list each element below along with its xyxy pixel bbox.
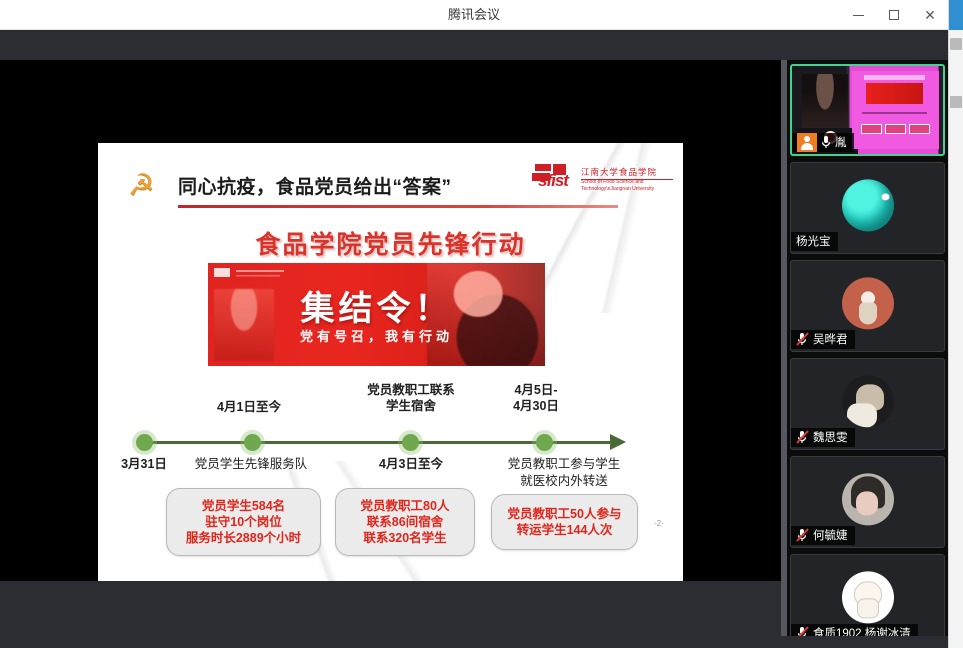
user-avatar-icon	[797, 133, 817, 152]
presentation-slide: ☭ 同心抗疫，食品党员给出“答案” sfist 江南大学食品学院 School …	[98, 143, 683, 581]
slide-timeline: 4月1日至今 党员教职工联系 学生宿舍 4月5日- 4月30日 3月31日 党员…	[98, 383, 683, 483]
banner-subtitle: 党有号召，我有行动	[208, 326, 545, 345]
participant-avatar-1	[842, 179, 894, 231]
projected-box-1	[861, 124, 882, 134]
participant-name-2: 吴晔君	[813, 331, 848, 347]
slide-header: ☭ 同心抗疫，食品党员给出“答案” sfist 江南大学食品学院 School …	[98, 161, 683, 213]
participant-name-bar-3: 魏思雯	[791, 428, 855, 447]
microphone-muted-icon	[796, 332, 809, 346]
microphone-icon	[821, 135, 831, 149]
participant-avatar-2	[842, 277, 894, 329]
party-emblem-icon: ☭	[128, 169, 168, 203]
shared-screen-area[interactable]: ☭ 同心抗疫，食品党员给出“答案” sfist 江南大学食品学院 School …	[0, 60, 781, 581]
slide-subtitle: 食品学院党员先锋行动	[98, 225, 683, 261]
background-window-titlebar	[949, 0, 963, 30]
slide-result-boxes: 党员学生584名 驻守10个岗位 服务时长2889个小时 党员教职工80人 联系…	[98, 488, 683, 566]
participant-tile-2[interactable]: 吴晔君	[790, 260, 945, 352]
timeline-dot-4	[536, 434, 553, 451]
close-button[interactable]: ✕	[912, 0, 948, 30]
projected-slide	[852, 71, 939, 149]
meeting-stage: ☭ 同心抗疫，食品党员给出“答案” sfist 江南大学食品学院 School …	[0, 30, 948, 648]
sfist-logo-mark: sfist	[529, 163, 577, 199]
participant-tile-0[interactable]: 胤	[790, 64, 945, 156]
timeline-dot-3	[402, 434, 419, 451]
participant-tile-1[interactable]: 杨光宝	[790, 162, 945, 254]
participant-avatar-3	[842, 375, 894, 427]
title-bar[interactable]: 腾讯会议 ✕	[0, 0, 948, 30]
projected-red-banner	[866, 83, 923, 103]
slide-banner-image: 集结令！ 党有号召，我有行动	[208, 263, 545, 366]
timeline-label-top-3: 党员教职工联系 学生宿舍	[338, 382, 484, 414]
logo-chinese-name: 江南大学食品学院	[581, 166, 673, 180]
minimize-button[interactable]	[840, 0, 876, 30]
participant-tile-5[interactable]: 食质1902 杨谢冰清	[790, 554, 945, 646]
banner-logo-icon	[214, 267, 286, 279]
window-bottom-edge	[0, 636, 948, 648]
projected-box-3	[909, 124, 930, 134]
timeline-arrow-icon	[610, 434, 626, 450]
result-box-1: 党员学生584名 驻守10个岗位 服务时长2889个小时	[166, 488, 321, 556]
meeting-window: 腾讯会议 ✕ ☭ 同心抗疫，食品党员给出“答案”	[0, 0, 963, 648]
timeline-label-bottom-2: 党员学生先锋服务队	[172, 456, 330, 473]
participant-name-0: 胤	[835, 134, 847, 150]
participant-avatar-5	[842, 571, 894, 623]
minimize-icon	[853, 15, 864, 16]
background-window-icon-2	[950, 96, 962, 108]
maximize-icon	[889, 10, 899, 20]
participant-name-3: 魏思雯	[813, 429, 848, 445]
window-controls: ✕	[840, 0, 948, 30]
university-logo: sfist 江南大学食品学院 School of Food Science an…	[529, 163, 677, 201]
participant-name-4: 何毓婕	[813, 527, 848, 543]
projected-box-2	[885, 124, 906, 134]
participants-rail[interactable]: 胤 杨光宝 吴晔君	[781, 60, 948, 648]
participant-tile-4[interactable]: 何毓婕	[790, 456, 945, 548]
timeline-label-bottom-4: 党员教职工参与学生 就医校内外转送	[484, 456, 644, 490]
timeline-label-bottom-3: 4月3日至今	[352, 456, 470, 473]
participant-name-bar-0: 胤	[792, 133, 854, 152]
slide-title: 同心抗疫，食品党员给出“答案”	[178, 172, 452, 199]
logo-english-name: School of Food Science and Technology\nJ…	[581, 179, 677, 193]
participants-rail-inner: 胤 杨光宝 吴晔君	[787, 60, 948, 648]
background-window-icon-1	[950, 38, 962, 50]
microphone-muted-icon	[796, 528, 809, 542]
title-underline	[178, 205, 618, 208]
timeline-label-top-4: 4月5日- 4月30日	[490, 382, 582, 414]
participant-name-bar-1: 杨光宝	[791, 232, 838, 251]
maximize-button[interactable]	[876, 0, 912, 30]
microphone-muted-icon	[796, 430, 809, 444]
slide-page-number: -2-	[654, 519, 664, 528]
participant-name-bar-4: 何毓婕	[791, 526, 855, 545]
timeline-dot-2	[244, 434, 261, 451]
participant-tile-3[interactable]: 魏思雯	[790, 358, 945, 450]
result-box-3: 党员教职工50人参与 转运学生144人次	[491, 494, 638, 550]
participant-name-1: 杨光宝	[796, 233, 831, 249]
timeline-label-top-2: 4月1日至今	[194, 399, 304, 415]
background-window-sliver[interactable]	[948, 0, 963, 648]
projected-title-bar	[864, 75, 925, 80]
projected-line-1	[862, 112, 926, 114]
timeline-dot-1	[136, 434, 153, 451]
result-box-2: 党员教职工80人 联系86间宿舍 联系320名学生	[335, 488, 475, 556]
window-title: 腾讯会议	[0, 0, 948, 30]
participant-avatar-4	[842, 473, 894, 525]
banner-title: 集结令！	[208, 281, 545, 330]
participant-name-bar-2: 吴晔君	[791, 330, 855, 349]
close-icon: ✕	[924, 8, 936, 22]
